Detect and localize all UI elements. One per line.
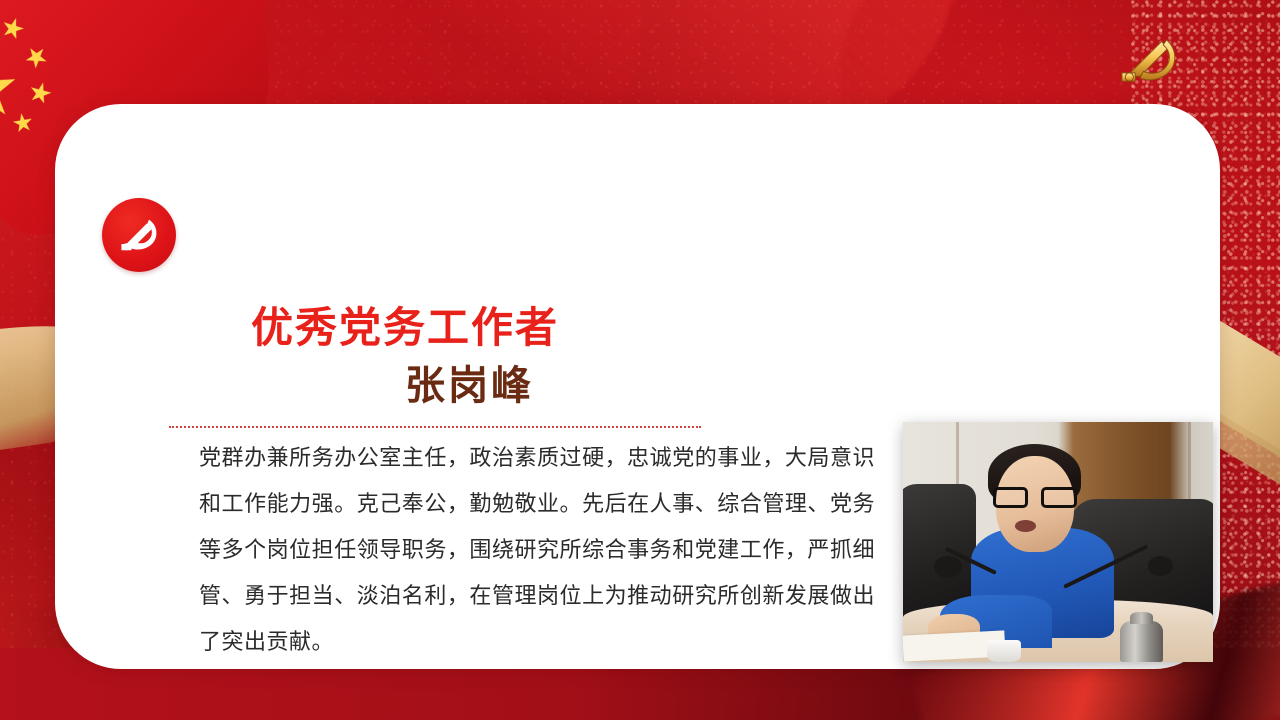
photo-glasses xyxy=(993,487,1077,509)
flag-star-small-3 xyxy=(27,80,54,107)
cpc-emblem-badge-icon xyxy=(102,198,176,272)
cpc-emblem-gold-icon xyxy=(1108,30,1192,96)
biography-text: 党群办兼所务办公室主任，政治素质过硬，忠诚党的事业，大局意识和工作能力强。克己奉… xyxy=(199,435,875,665)
content-card: 优秀党务工作者 张岗峰 党群办兼所务办公室主任，政治素质过硬，忠诚党的事业，大局… xyxy=(55,104,1220,669)
photo-microphone-right-head xyxy=(1148,556,1173,575)
flag-star-small-2 xyxy=(21,42,52,73)
flag-star-small-1 xyxy=(0,15,27,42)
slide-canvas: 优秀党务工作者 张岗峰 党群办兼所务办公室主任，政治素质过硬，忠诚党的事业，大局… xyxy=(0,0,1280,720)
flag-star-large xyxy=(0,57,19,122)
photo-thermos xyxy=(1120,621,1163,662)
photo-microphone-left-head xyxy=(934,556,962,578)
photo-cup xyxy=(987,640,1021,662)
person-name: 张岗峰 xyxy=(405,366,534,406)
page-title: 优秀党务工作者 xyxy=(251,308,559,350)
dotted-divider xyxy=(169,426,701,428)
flag-star-small-4 xyxy=(11,112,34,135)
photo-scene xyxy=(903,422,1213,662)
person-photo xyxy=(903,422,1213,662)
